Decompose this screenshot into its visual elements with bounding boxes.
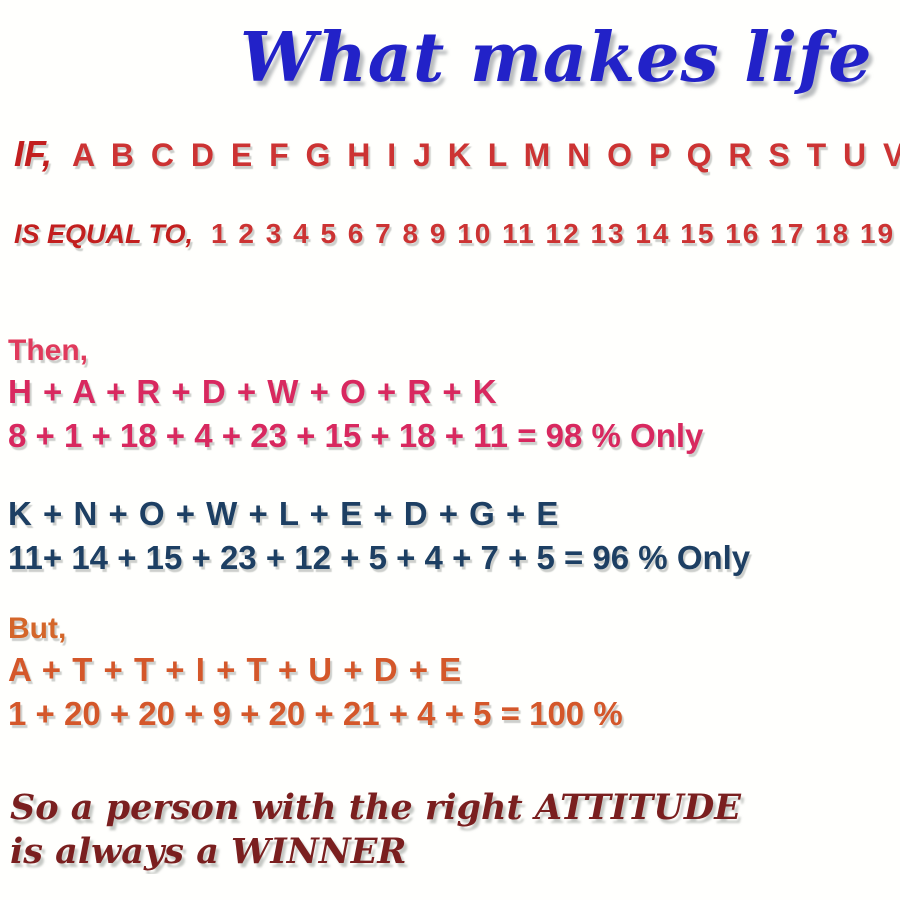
if-label: IF, (14, 133, 52, 175)
alphabet-sequence: A B C D E F G H I J K L M N O P Q R S T … (72, 137, 900, 174)
page-title: What makes life 100% (240, 18, 900, 98)
number-sequence: 1 2 3 4 5 6 7 8 9 10 11 12 13 14 15 16 1… (211, 218, 900, 250)
knowledge-letters: K + N + O + W + L + E + D + G + E (8, 492, 900, 536)
knowledge-sum: 11+ 14 + 15 + 23 + 12 + 5 + 4 + 7 + 5 = … (8, 536, 900, 580)
hardwork-sum: 8 + 1 + 18 + 4 + 23 + 15 + 18 + 11 = 98 … (8, 414, 900, 458)
attitude-letters: A + T + T + I + T + U + D + E (8, 648, 900, 692)
attitude-kicker: But, (8, 610, 900, 648)
block-knowledge: K + N + O + W + L + E + D + G + E 11+ 14… (8, 492, 900, 580)
conclusion: So a person with the right ATTITUDE is a… (10, 786, 890, 874)
block-hardwork: Then, H + A + R + D + W + O + R + K 8 + … (8, 332, 900, 458)
conclusion-line-2: is always a WINNER (10, 830, 890, 874)
hardwork-kicker: Then, (8, 332, 900, 370)
premise-numbers-row: IS EQUAL TO, 1 2 3 4 5 6 7 8 9 10 11 12 … (14, 218, 900, 270)
poster-canvas: What makes life 100% IF, A B C D E F G H… (0, 0, 900, 900)
hardwork-letters: H + A + R + D + W + O + R + K (8, 370, 900, 414)
is-equal-to-label: IS EQUAL TO, (14, 219, 193, 250)
title-row: What makes life 100% (0, 18, 900, 113)
conclusion-line-1: So a person with the right ATTITUDE (10, 786, 890, 830)
premise-alphabet-row: IF, A B C D E F G H I J K L M N O P Q R … (14, 133, 900, 189)
block-attitude: But, A + T + T + I + T + U + D + E 1 + 2… (8, 610, 900, 736)
attitude-sum: 1 + 20 + 20 + 9 + 20 + 21 + 4 + 5 = 100 … (8, 692, 900, 736)
